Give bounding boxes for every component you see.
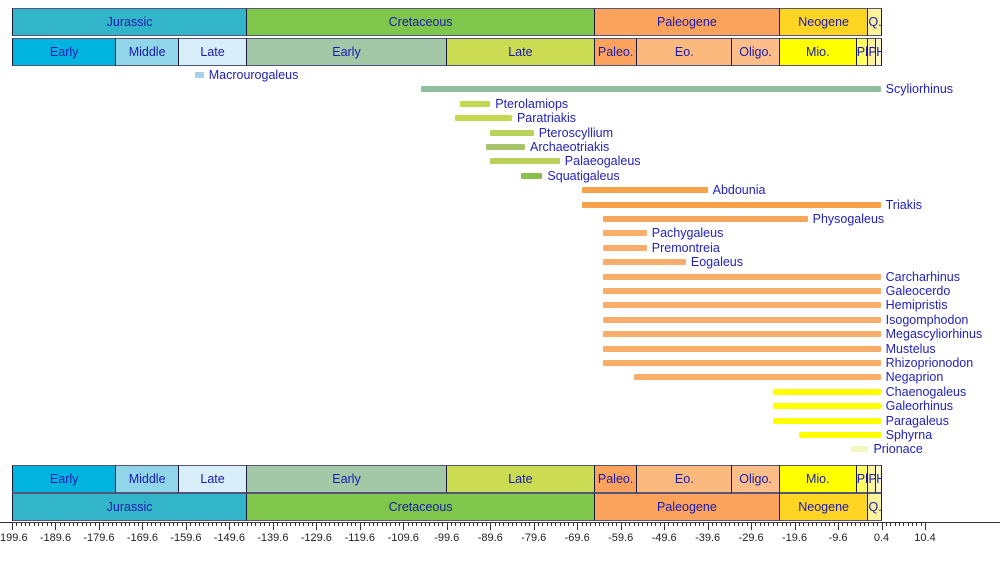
- taxon-label: Carcharhinus: [886, 270, 960, 284]
- period-b-paleogene-2[interactable]: Paleogene: [595, 493, 780, 521]
- band-label: Mio.: [806, 472, 830, 486]
- axis-tick-minor: [755, 522, 756, 526]
- axis-tick-major: [664, 522, 665, 530]
- axis-tick-minor: [551, 522, 552, 526]
- epoch-b-mio-8[interactable]: Mio.: [780, 465, 857, 493]
- band-label: Late: [508, 472, 532, 486]
- taxon-label: Mustelus: [886, 342, 936, 356]
- axis-tick-minor: [686, 522, 687, 526]
- range-bar[interactable]: [603, 317, 880, 323]
- period-band-top: JurassicCretaceousPaleogeneNeogeneQ.: [0, 8, 1000, 36]
- axis-tick-major: [99, 522, 100, 530]
- taxon-label: Macrourogaleus: [209, 68, 299, 82]
- axis-line: [0, 522, 1000, 523]
- range-bar[interactable]: [799, 432, 881, 438]
- axis-tick-minor: [77, 522, 78, 526]
- axis-tick-major: [490, 522, 491, 530]
- taxon-label: Negaprion: [886, 370, 944, 384]
- axis-tick-major: [55, 522, 56, 530]
- taxon-label: Physogaleus: [813, 212, 885, 226]
- taxon-row: Negaprion: [0, 370, 1000, 384]
- epoch-early-0[interactable]: Early: [12, 38, 116, 66]
- axis-tick-minor: [329, 522, 330, 526]
- axis-tick-minor: [816, 522, 817, 526]
- range-bar[interactable]: [603, 216, 807, 222]
- axis-tick-minor: [512, 522, 513, 526]
- epoch-eo-6[interactable]: Eo.: [637, 38, 732, 66]
- taxon-label: Chaenogaleus: [886, 385, 967, 399]
- taxon-label: Galeorhinus: [886, 399, 953, 413]
- band-label: Eo.: [675, 45, 694, 59]
- axis-tick-minor: [138, 522, 139, 526]
- period-band-bottom: JurassicCretaceousPaleogeneNeogeneQ.: [0, 493, 1000, 521]
- axis-tick-label: -59.6: [608, 532, 633, 544]
- axis-tick-label: -199.6: [0, 532, 28, 544]
- axis-tick-minor: [555, 522, 556, 526]
- axis-tick-minor: [147, 522, 148, 526]
- axis-tick-minor: [721, 522, 722, 526]
- band-label: Paleogene: [657, 15, 717, 29]
- axis-tick-minor: [429, 522, 430, 526]
- period-b-jurassic-0[interactable]: Jurassic: [12, 493, 247, 521]
- axis-tick-minor: [190, 522, 191, 526]
- axis-tick-minor: [825, 522, 826, 526]
- epoch-b-h-11[interactable]: H.: [876, 465, 881, 493]
- axis-tick-minor: [503, 522, 504, 526]
- band-label: Q.: [868, 500, 881, 514]
- band-label: Early: [50, 472, 78, 486]
- period-b-neogene-3[interactable]: Neogene: [780, 493, 869, 521]
- axis-tick-minor: [303, 522, 304, 526]
- axis-tick-minor: [847, 522, 848, 526]
- axis-tick-major: [577, 522, 578, 530]
- band-label: Neogene: [798, 500, 849, 514]
- axis-tick-minor: [412, 522, 413, 526]
- epoch-middle-1[interactable]: Middle: [116, 38, 179, 66]
- axis-tick-minor: [134, 522, 135, 526]
- band-label: Paleogene: [657, 500, 717, 514]
- axis-tick-minor: [234, 522, 235, 526]
- taxon-label: Megascyliorhinus: [886, 327, 983, 341]
- axis-tick-label: -89.6: [478, 532, 503, 544]
- axis-tick-minor: [782, 522, 783, 526]
- axis-tick-minor: [334, 522, 335, 526]
- epoch-pl-9[interactable]: Pl.: [857, 38, 869, 66]
- taxon-label: Rhizoprionodon: [886, 356, 974, 370]
- axis-tick-minor: [473, 522, 474, 526]
- axis-tick-label: -179.6: [83, 532, 114, 544]
- axis-tick-minor: [542, 522, 543, 526]
- axis-tick-minor: [899, 522, 900, 526]
- taxon-row: Archaeotriakis: [0, 140, 1000, 154]
- taxon-row: Premontreia: [0, 241, 1000, 255]
- taxon-label: Scyliorhinus: [886, 82, 953, 96]
- axis-tick-minor: [342, 522, 343, 526]
- axis-tick-minor: [508, 522, 509, 526]
- axis-tick-minor: [160, 522, 161, 526]
- axis-tick-minor: [264, 522, 265, 526]
- axis-tick-minor: [312, 522, 313, 526]
- taxon-row: Palaeogaleus: [0, 154, 1000, 168]
- epoch-b-oligo-7[interactable]: Oligo.: [732, 465, 779, 493]
- axis-tick-minor: [699, 522, 700, 526]
- taxon-row: Galeorhinus: [0, 399, 1000, 413]
- taxon-row: Macrourogaleus: [0, 68, 1000, 82]
- axis-tick-major: [838, 522, 839, 530]
- axis-tick-minor: [155, 522, 156, 526]
- axis-tick-minor: [560, 522, 561, 526]
- axis-tick-minor: [625, 522, 626, 526]
- band-label: Early: [332, 45, 360, 59]
- band-label: Neogene: [798, 15, 849, 29]
- axis-tick-minor: [455, 522, 456, 526]
- axis-tick-minor: [451, 522, 452, 526]
- axis-tick-label: -109.6: [388, 532, 419, 544]
- band-label: Jurassic: [107, 500, 153, 514]
- axis-tick-minor: [347, 522, 348, 526]
- taxon-row: Pteroscyllium: [0, 126, 1000, 140]
- taxon-row: Sphyrna: [0, 428, 1000, 442]
- band-label: Middle: [129, 472, 166, 486]
- axis-tick-minor: [638, 522, 639, 526]
- band-label: Oligo.: [739, 45, 772, 59]
- axis-tick-minor: [164, 522, 165, 526]
- axis-tick-minor: [529, 522, 530, 526]
- axis-tick-minor: [703, 522, 704, 526]
- taxon-row: Megascyliorhinus: [0, 327, 1000, 341]
- taxon-label: Archaeotriakis: [530, 140, 609, 154]
- taxon-row: Squatigaleus: [0, 169, 1000, 183]
- axis-tick-minor: [573, 522, 574, 526]
- axis-tick-minor: [399, 522, 400, 526]
- axis-tick-minor: [73, 522, 74, 526]
- range-bar[interactable]: [634, 374, 881, 380]
- axis-tick-major: [447, 522, 448, 530]
- axis-tick-major: [882, 522, 883, 530]
- range-bar[interactable]: [603, 274, 880, 280]
- axis-tick-minor: [908, 522, 909, 526]
- range-bar[interactable]: [603, 331, 880, 337]
- axis-tick-minor: [738, 522, 739, 526]
- axis-tick-minor: [516, 522, 517, 526]
- axis-tick-minor: [912, 522, 913, 526]
- axis-tick-major: [708, 522, 709, 530]
- axis-tick-minor: [647, 522, 648, 526]
- range-bar[interactable]: [603, 346, 880, 352]
- axis-tick-minor: [564, 522, 565, 526]
- taxon-label: Pachygaleus: [652, 226, 724, 240]
- axis-tick-major: [534, 522, 535, 530]
- axis-tick-minor: [42, 522, 43, 526]
- axis-tick-major: [751, 522, 752, 530]
- axis-tick-minor: [642, 522, 643, 526]
- axis-tick-minor: [477, 522, 478, 526]
- axis-tick-minor: [377, 522, 378, 526]
- axis-tick-minor: [290, 522, 291, 526]
- axis-tick-minor: [108, 522, 109, 526]
- period-cretaceous-1[interactable]: Cretaceous: [247, 8, 595, 36]
- range-bar[interactable]: [773, 389, 881, 395]
- axis-tick-major: [795, 522, 796, 530]
- axis-tick-minor: [725, 522, 726, 526]
- taxon-row: Pachygaleus: [0, 226, 1000, 240]
- axis-tick-label: 10.4: [914, 532, 935, 544]
- axis-tick-minor: [395, 522, 396, 526]
- axis-tick-minor: [742, 522, 743, 526]
- period-b-q-4[interactable]: Q.: [868, 493, 881, 521]
- axis-tick-minor: [277, 522, 278, 526]
- epoch-h-11[interactable]: H.: [876, 38, 881, 66]
- axis-tick-minor: [21, 522, 22, 526]
- range-bar[interactable]: [603, 360, 880, 366]
- band-label: Late: [508, 45, 532, 59]
- axis-tick-minor: [195, 522, 196, 526]
- axis-tick-minor: [682, 522, 683, 526]
- axis-tick-minor: [255, 522, 256, 526]
- range-bar[interactable]: [195, 72, 204, 78]
- band-label: Cretaceous: [389, 15, 453, 29]
- axis-tick-minor: [286, 522, 287, 526]
- range-bar[interactable]: [603, 230, 646, 236]
- band-label: Early: [50, 45, 78, 59]
- range-bar[interactable]: [582, 202, 881, 208]
- axis-tick-minor: [568, 522, 569, 526]
- range-bar[interactable]: [603, 288, 880, 294]
- band-label: Cretaceous: [389, 500, 453, 514]
- taxon-label: Pteroscyllium: [539, 126, 613, 140]
- axis-tick-minor: [877, 522, 878, 526]
- axis-tick-minor: [608, 522, 609, 526]
- axis-tick-minor: [438, 522, 439, 526]
- epoch-paleo-5[interactable]: Paleo.: [595, 38, 637, 66]
- axis-tick-minor: [716, 522, 717, 526]
- period-paleogene-2[interactable]: Paleogene: [595, 8, 780, 36]
- band-label: Pl.: [868, 45, 876, 59]
- epoch-early-3[interactable]: Early: [247, 38, 447, 66]
- axis-tick-minor: [521, 522, 522, 526]
- epoch-mio-8[interactable]: Mio.: [780, 38, 857, 66]
- epoch-oligo-7[interactable]: Oligo.: [732, 38, 779, 66]
- taxon-row: Prionace: [0, 442, 1000, 456]
- epoch-band-bottom: EarlyMiddleLateEarlyLatePaleo.Eo.Oligo.M…: [0, 465, 1000, 493]
- axis-tick-minor: [434, 522, 435, 526]
- axis-tick-minor: [216, 522, 217, 526]
- range-bar[interactable]: [521, 173, 543, 179]
- range-bar[interactable]: [421, 86, 881, 92]
- epoch-b-eo-6[interactable]: Eo.: [637, 465, 732, 493]
- axis-tick-minor: [247, 522, 248, 526]
- axis-tick-minor: [599, 522, 600, 526]
- axis-tick-label: -79.6: [521, 532, 546, 544]
- epoch-late-2[interactable]: Late: [179, 38, 247, 66]
- taxon-label: Eogaleus: [691, 255, 743, 269]
- axis-tick-minor: [803, 522, 804, 526]
- band-label: Early: [332, 472, 360, 486]
- time-axis: [0, 522, 1000, 532]
- axis-tick-label: -39.6: [695, 532, 720, 544]
- axis-tick-minor: [629, 522, 630, 526]
- axis-tick-minor: [690, 522, 691, 526]
- taxon-label: Galeocerdo: [886, 284, 951, 298]
- epoch-late-4[interactable]: Late: [447, 38, 595, 66]
- axis-tick-minor: [203, 522, 204, 526]
- axis-tick-label: -149.6: [214, 532, 245, 544]
- epoch-b-pl-9[interactable]: Pl.: [857, 465, 869, 493]
- axis-tick-minor: [842, 522, 843, 526]
- range-bar[interactable]: [460, 101, 490, 107]
- taxon-row: Paratriakis: [0, 111, 1000, 125]
- axis-tick-minor: [425, 522, 426, 526]
- axis-tick-minor: [116, 522, 117, 526]
- axis-tick-minor: [673, 522, 674, 526]
- taxon-label: Pterolamiops: [495, 97, 568, 111]
- axis-tick-minor: [321, 522, 322, 526]
- range-bar[interactable]: [773, 418, 881, 424]
- axis-tick-minor: [442, 522, 443, 526]
- axis-tick-minor: [308, 522, 309, 526]
- axis-tick-minor: [173, 522, 174, 526]
- axis-tick-minor: [695, 522, 696, 526]
- band-label: Paleo.: [598, 45, 633, 59]
- taxon-row: Eogaleus: [0, 255, 1000, 269]
- range-bar[interactable]: [455, 115, 512, 121]
- epoch-b-late-4[interactable]: Late: [447, 465, 595, 493]
- axis-tick-minor: [482, 522, 483, 526]
- range-bar[interactable]: [851, 446, 868, 452]
- axis-tick-minor: [421, 522, 422, 526]
- range-bar[interactable]: [773, 403, 881, 409]
- axis-tick-minor: [812, 522, 813, 526]
- epoch-b-late-2[interactable]: Late: [179, 465, 247, 493]
- axis-tick-minor: [38, 522, 39, 526]
- axis-tick-minor: [90, 522, 91, 526]
- axis-tick-minor: [829, 522, 830, 526]
- epoch-b-early-0[interactable]: Early: [12, 465, 116, 493]
- band-label: H.: [876, 45, 881, 59]
- axis-tick-minor: [668, 522, 669, 526]
- taxon-label: Paragaleus: [886, 414, 949, 428]
- band-label: Paleo.: [598, 472, 633, 486]
- axis-tick-minor: [95, 522, 96, 526]
- taxon-row: Triakis: [0, 198, 1000, 212]
- taxon-row: Chaenogaleus: [0, 385, 1000, 399]
- axis-tick-minor: [895, 522, 896, 526]
- axis-tick-minor: [786, 522, 787, 526]
- period-q-4[interactable]: Q.: [868, 8, 881, 36]
- period-neogene-3[interactable]: Neogene: [780, 8, 869, 36]
- axis-tick-minor: [386, 522, 387, 526]
- axis-tick-minor: [238, 522, 239, 526]
- axis-tick-major: [142, 522, 143, 530]
- axis-tick-minor: [351, 522, 352, 526]
- epoch-b-early-3[interactable]: Early: [247, 465, 447, 493]
- taxon-label: Isogomphodon: [886, 313, 969, 327]
- axis-tick-major: [316, 522, 317, 530]
- band-label: Pl.: [868, 472, 876, 486]
- axis-tick-minor: [768, 522, 769, 526]
- axis-tick-label: -9.6: [829, 532, 848, 544]
- axis-tick-minor: [903, 522, 904, 526]
- axis-tick-minor: [242, 522, 243, 526]
- axis-tick-minor: [221, 522, 222, 526]
- axis-tick-major: [12, 522, 13, 530]
- axis-tick-minor: [112, 522, 113, 526]
- band-label: Pl.: [857, 472, 869, 486]
- taxon-label: Prionace: [873, 442, 922, 456]
- axis-tick-major: [360, 522, 361, 530]
- range-bar[interactable]: [582, 187, 708, 193]
- axis-tick-minor: [590, 522, 591, 526]
- axis-tick-minor: [338, 522, 339, 526]
- range-bar[interactable]: [490, 158, 560, 164]
- period-jurassic-0[interactable]: Jurassic: [12, 8, 247, 36]
- axis-tick-minor: [855, 522, 856, 526]
- axis-tick-minor: [764, 522, 765, 526]
- range-bar[interactable]: [490, 130, 533, 136]
- taxon-label: Abdounia: [713, 183, 766, 197]
- taxon-row: Paragaleus: [0, 414, 1000, 428]
- axis-tick-label: -119.6: [345, 532, 375, 544]
- axis-tick-minor: [634, 522, 635, 526]
- axis-tick-minor: [34, 522, 35, 526]
- range-bar[interactable]: [486, 144, 525, 150]
- axis-tick-minor: [677, 522, 678, 526]
- axis-tick-minor: [60, 522, 61, 526]
- band-label: Late: [200, 45, 224, 59]
- epoch-b-pl-10[interactable]: Pl.: [868, 465, 876, 493]
- range-bar[interactable]: [603, 245, 646, 251]
- axis-tick-minor: [834, 522, 835, 526]
- axis-tick-minor: [612, 522, 613, 526]
- axis-tick-minor: [325, 522, 326, 526]
- axis-tick-labels: -199.6-189.6-179.6-169.6-159.6-149.6-139…: [0, 532, 1000, 548]
- axis-tick-minor: [499, 522, 500, 526]
- axis-tick-minor: [851, 522, 852, 526]
- axis-tick-minor: [125, 522, 126, 526]
- taxon-row: Abdounia: [0, 183, 1000, 197]
- taxon-row: Hemipristis: [0, 298, 1000, 312]
- axis-tick-minor: [25, 522, 26, 526]
- axis-tick-major: [186, 522, 187, 530]
- axis-tick-label: -69.6: [565, 532, 590, 544]
- period-b-cretaceous-1[interactable]: Cretaceous: [247, 493, 595, 521]
- axis-tick-label: -189.6: [40, 532, 71, 544]
- axis-tick-minor: [177, 522, 178, 526]
- axis-tick-minor: [364, 522, 365, 526]
- axis-tick-minor: [651, 522, 652, 526]
- axis-tick-minor: [64, 522, 65, 526]
- axis-tick-minor: [547, 522, 548, 526]
- range-bar[interactable]: [603, 302, 880, 308]
- epoch-b-middle-1[interactable]: Middle: [116, 465, 179, 493]
- band-label: H.: [876, 472, 881, 486]
- range-bar[interactable]: [603, 259, 686, 265]
- axis-tick-minor: [821, 522, 822, 526]
- axis-tick-minor: [373, 522, 374, 526]
- epoch-pl-10[interactable]: Pl.: [868, 38, 876, 66]
- axis-tick-minor: [460, 522, 461, 526]
- axis-tick-minor: [538, 522, 539, 526]
- axis-tick-minor: [69, 522, 70, 526]
- axis-tick-minor: [269, 522, 270, 526]
- axis-tick-minor: [586, 522, 587, 526]
- axis-tick-minor: [921, 522, 922, 526]
- epoch-b-paleo-5[interactable]: Paleo.: [595, 465, 637, 493]
- axis-tick-minor: [486, 522, 487, 526]
- taxon-row: Rhizoprionodon: [0, 356, 1000, 370]
- axis-tick-major: [621, 522, 622, 530]
- axis-tick-minor: [182, 522, 183, 526]
